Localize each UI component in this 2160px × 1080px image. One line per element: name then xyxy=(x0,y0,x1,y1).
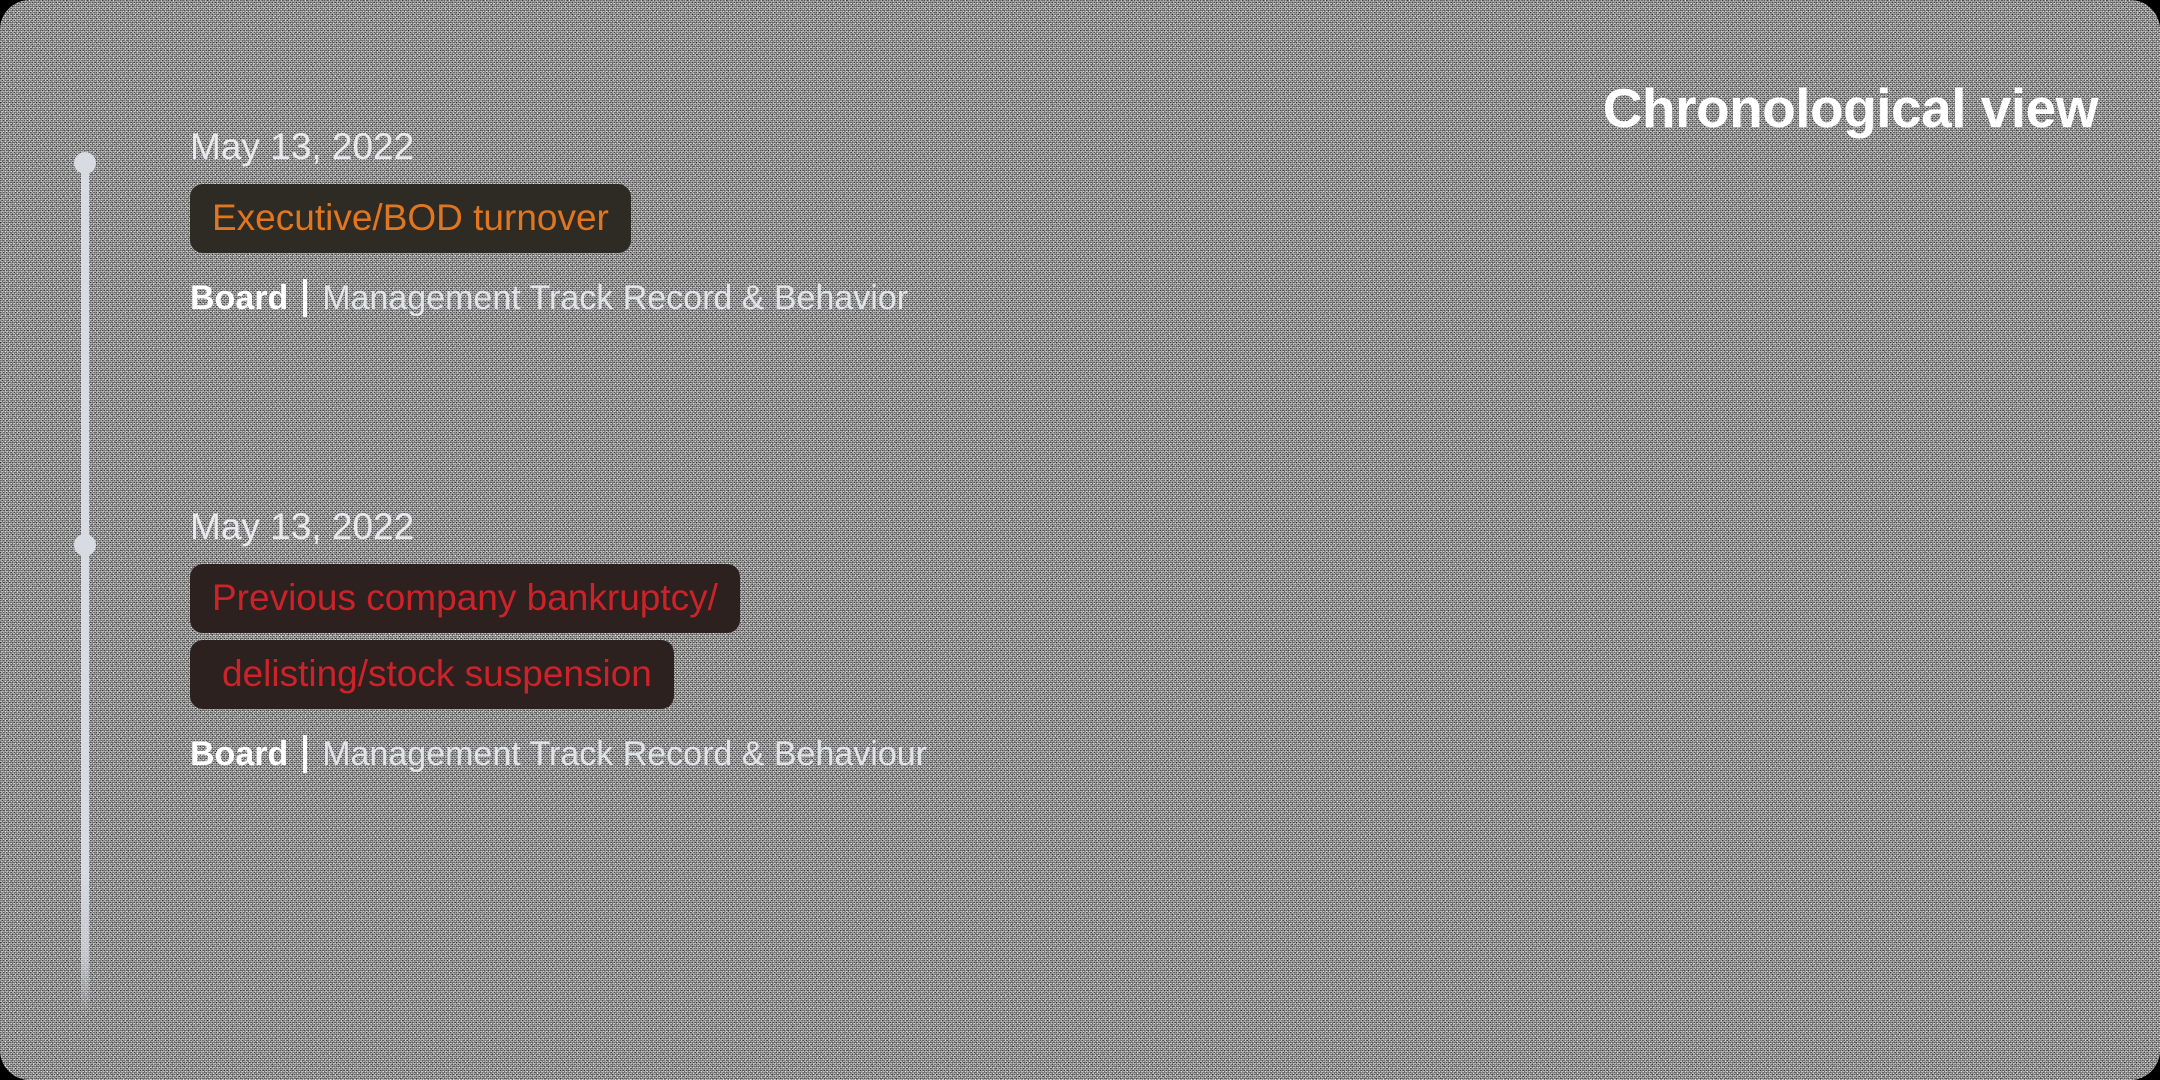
entry-category: Board Management Track Record & Behaviou… xyxy=(190,735,927,773)
entry-category-separator-bar xyxy=(303,279,307,317)
entry-category-secondary: Management Track Record & Behavior xyxy=(322,281,908,315)
timeline-rail xyxy=(81,160,89,1015)
entry-date: May 13, 2022 xyxy=(190,128,908,165)
timeline-dot-marker xyxy=(74,534,96,556)
entry-category-separator-bar xyxy=(303,735,307,773)
chronological-view-card: Chronological view May 13, 2022 Executiv… xyxy=(0,0,2160,1080)
entry-category-secondary: Management Track Record & Behaviour xyxy=(322,737,927,771)
entry-date: May 13, 2022 xyxy=(190,508,927,545)
entry-tag-stack: Executive/BOD turnover xyxy=(190,184,908,260)
entry-category-primary: Board xyxy=(190,737,288,771)
page-title: Chronological view xyxy=(1603,78,2098,139)
entry-tag-badge[interactable]: delisting/stock suspension xyxy=(190,640,674,709)
timeline-entry: May 13, 2022 Previous company bankruptcy… xyxy=(190,508,927,773)
entry-tag-badge[interactable]: Previous company bankruptcy/ xyxy=(190,564,740,633)
entry-category-primary: Board xyxy=(190,281,288,315)
entry-tag-badge[interactable]: Executive/BOD turnover xyxy=(190,184,631,253)
entry-tag-stack: Previous company bankruptcy/ delisting/s… xyxy=(190,564,927,716)
timeline-entry: May 13, 2022 Executive/BOD turnover Boar… xyxy=(190,128,908,317)
timeline-dot-marker xyxy=(74,152,96,174)
entry-category: Board Management Track Record & Behavior xyxy=(190,279,908,317)
